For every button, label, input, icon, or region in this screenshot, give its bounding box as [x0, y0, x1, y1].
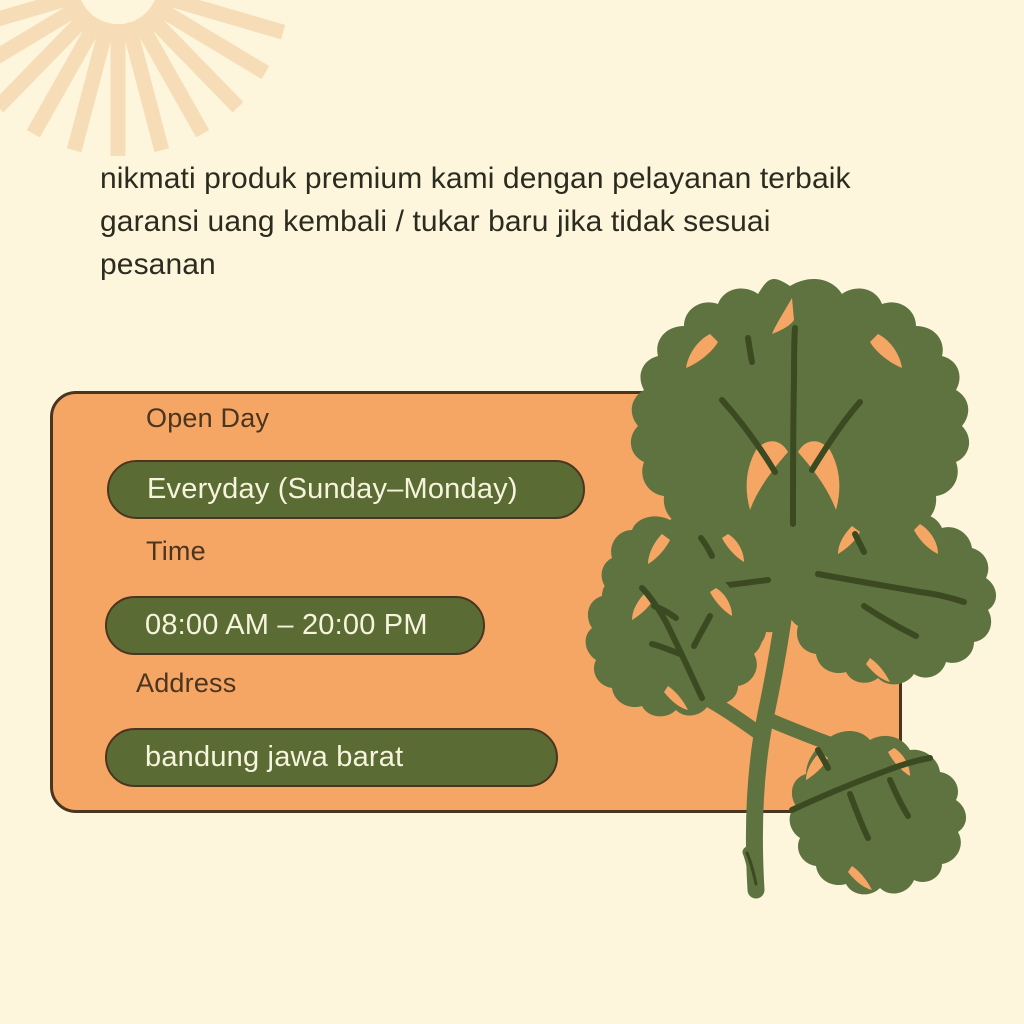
field-pill-open-day[interactable]: Everyday (Sunday–Monday)	[107, 460, 585, 519]
sunburst-rays-top-left-icon	[0, 0, 298, 164]
field-pill-address[interactable]: bandung jawa barat	[105, 728, 558, 787]
field-value-open-day: Everyday (Sunday–Monday)	[109, 473, 518, 506]
business-info-card: Open Day Everyday (Sunday–Monday) Time 0…	[50, 391, 902, 813]
field-pill-time[interactable]: 08:00 AM – 20:00 PM	[105, 596, 485, 655]
field-label-open-day: Open Day	[146, 403, 269, 434]
field-label-time: Time	[146, 536, 206, 567]
field-value-address: bandung jawa barat	[107, 741, 403, 774]
sunburst-rays-bottom-right-icon	[628, 852, 1024, 1024]
poster-canvas: nikmati produk premium kami dengan pelay…	[0, 0, 1024, 1024]
field-value-time: 08:00 AM – 20:00 PM	[107, 609, 428, 642]
page-headline: nikmati produk premium kami dengan pelay…	[100, 157, 920, 286]
field-label-address: Address	[136, 668, 236, 699]
